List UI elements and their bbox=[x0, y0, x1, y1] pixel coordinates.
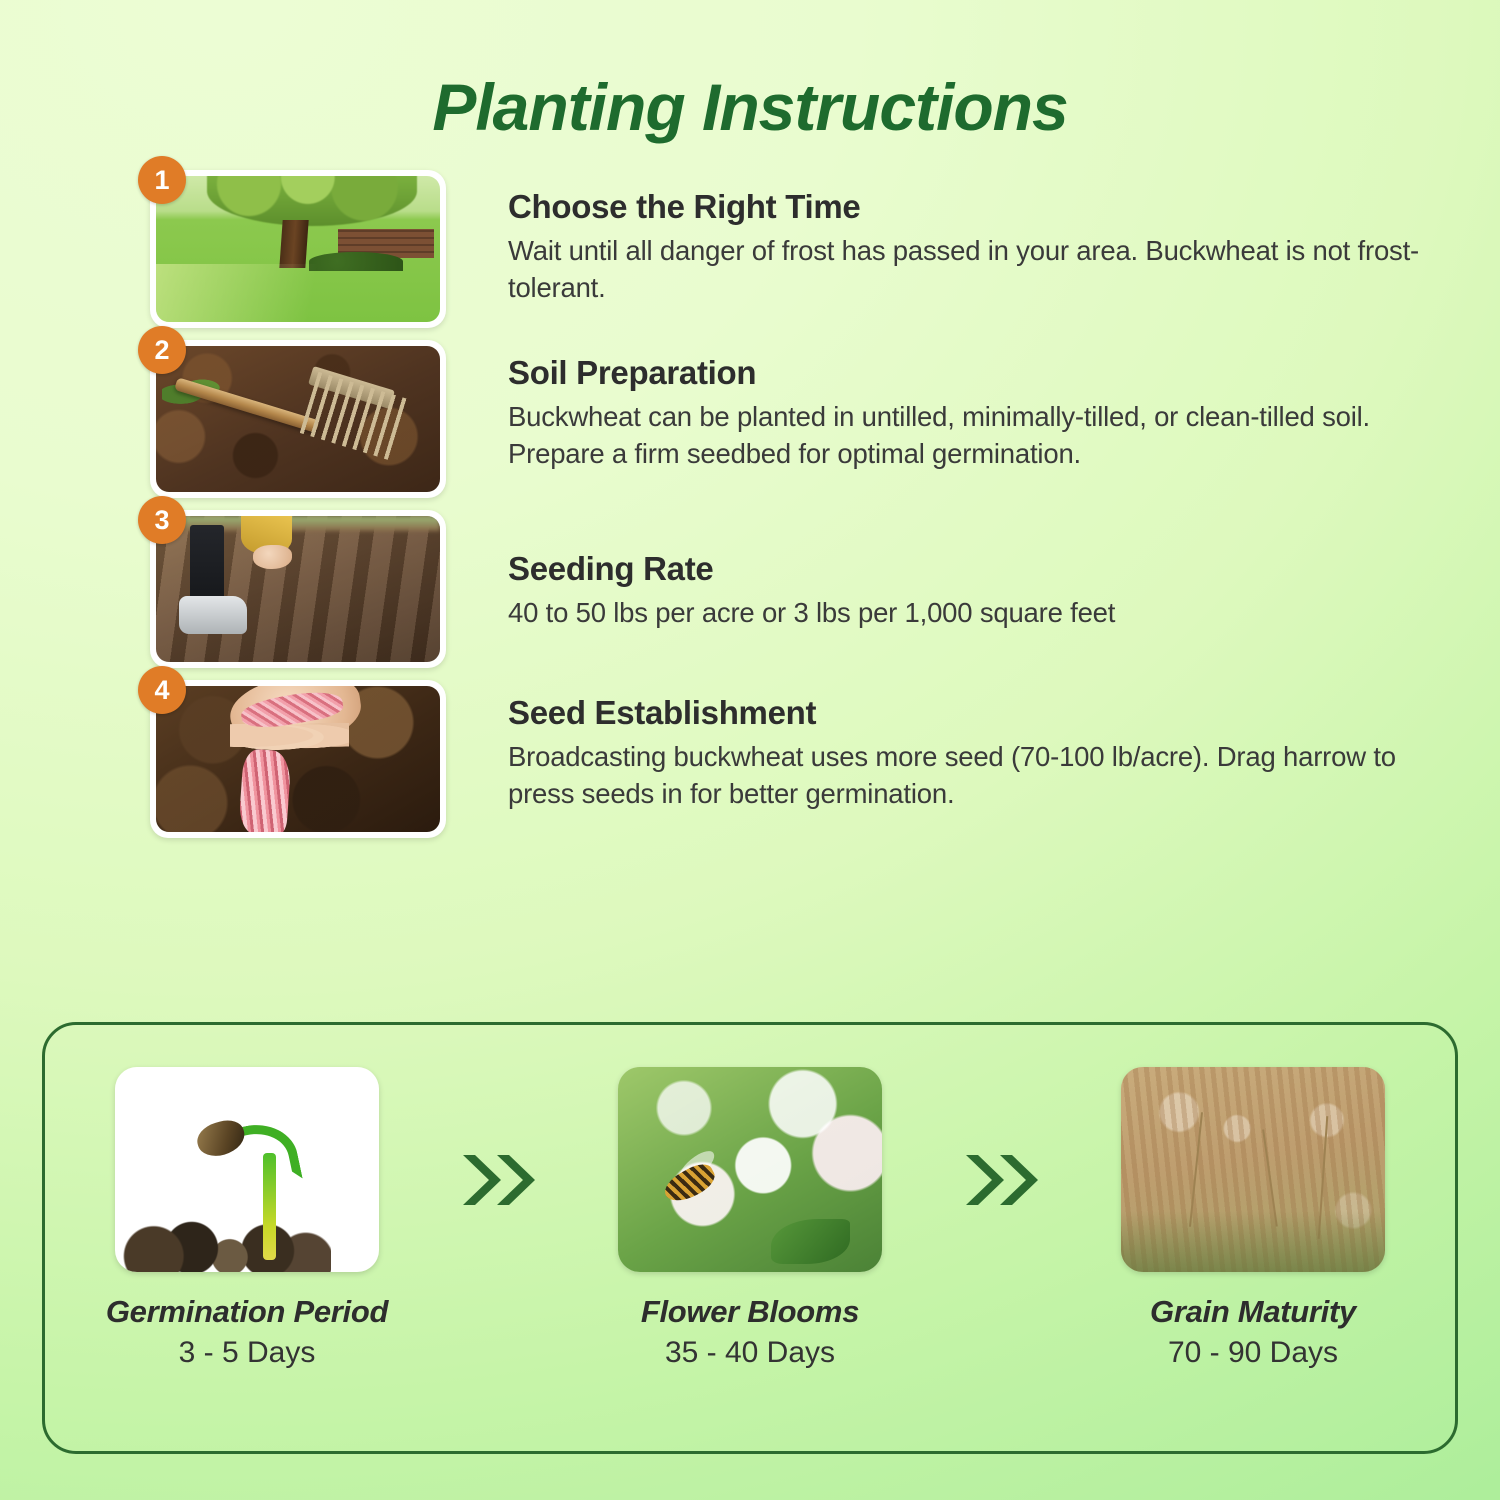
step-4-thumbnail-frame bbox=[150, 680, 446, 838]
step-1-heading: Choose the Right Time bbox=[508, 188, 1452, 226]
planting-steps-list: 1 Choose the Right Time Wait until all d… bbox=[0, 170, 1500, 838]
header: Planting Instructions bbox=[0, 0, 1500, 140]
mature-buckwheat-field-photo bbox=[1121, 1067, 1385, 1272]
step-4-thumbnail-wrap: 4 bbox=[150, 680, 446, 838]
step-item-2: 2 Soil Preparation Buckwheat can be plan… bbox=[150, 340, 1452, 498]
step-1-number-badge: 1 bbox=[138, 156, 186, 204]
step-3-text: Seeding Rate 40 to 50 lbs per acre or 3 … bbox=[508, 510, 1452, 632]
step-1-thumbnail-frame bbox=[150, 170, 446, 328]
growth-timeline-panel: Germination Period 3 - 5 Days Flower Blo… bbox=[42, 1022, 1458, 1454]
timeline-stage-germination: Germination Period 3 - 5 Days bbox=[97, 1067, 397, 1370]
step-item-3: 3 Seeding Rate 40 to 50 lbs per acre or … bbox=[150, 510, 1452, 668]
sunny-lawn-with-willow-tree-photo bbox=[156, 176, 440, 322]
step-4-number-badge: 4 bbox=[138, 666, 186, 714]
step-4-description: Broadcasting buckwheat uses more seed (7… bbox=[508, 739, 1452, 813]
double-chevron-right-icon-2 bbox=[954, 1149, 1050, 1211]
step-2-thumbnail-frame bbox=[150, 340, 446, 498]
hand-broadcasting-treated-seed-photo bbox=[156, 686, 440, 832]
step-1-thumbnail-wrap: 1 bbox=[150, 170, 446, 328]
step-1-text: Choose the Right Time Wait until all dan… bbox=[508, 170, 1452, 307]
step-3-thumbnail-wrap: 3 bbox=[150, 510, 446, 668]
step-3-thumbnail-frame bbox=[150, 510, 446, 668]
bee-on-buckwheat-blossom-photo bbox=[618, 1067, 882, 1272]
timeline-stage-1-label: Germination Period bbox=[97, 1294, 397, 1330]
step-2-description: Buckwheat can be planted in untilled, mi… bbox=[508, 399, 1452, 473]
step-item-1: 1 Choose the Right Time Wait until all d… bbox=[150, 170, 1452, 328]
step-4-heading: Seed Establishment bbox=[508, 694, 1452, 732]
step-item-4: 4 Seed Establishment Broadcasting buckwh… bbox=[150, 680, 1452, 838]
seedling-sprout-photo bbox=[115, 1067, 379, 1272]
timeline-stage-1-value: 3 - 5 Days bbox=[97, 1336, 397, 1370]
timeline-stage-3-value: 70 - 90 Days bbox=[1103, 1336, 1403, 1370]
step-2-number-badge: 2 bbox=[138, 326, 186, 374]
timeline-stage-3-label: Grain Maturity bbox=[1103, 1294, 1403, 1330]
step-2-thumbnail-wrap: 2 bbox=[150, 340, 446, 498]
step-4-text: Seed Establishment Broadcasting buckwhea… bbox=[508, 680, 1452, 813]
step-3-description: 40 to 50 lbs per acre or 3 lbs per 1,000… bbox=[508, 595, 1452, 632]
step-3-heading: Seeding Rate bbox=[508, 550, 1452, 588]
rake-on-tilled-soil-photo bbox=[156, 346, 440, 492]
step-2-heading: Soil Preparation bbox=[508, 354, 1452, 392]
sowing-seed-into-furrows-photo bbox=[156, 516, 440, 662]
double-chevron-right-icon bbox=[451, 1149, 547, 1211]
step-1-description: Wait until all danger of frost has passe… bbox=[508, 233, 1452, 307]
timeline-stage-2-value: 35 - 40 Days bbox=[600, 1336, 900, 1370]
timeline-stage-flowering: Flower Blooms 35 - 40 Days bbox=[600, 1067, 900, 1370]
page-title: Planting Instructions bbox=[0, 74, 1500, 140]
timeline-stage-2-label: Flower Blooms bbox=[600, 1294, 900, 1330]
step-3-number-badge: 3 bbox=[138, 496, 186, 544]
timeline-stage-maturity: Grain Maturity 70 - 90 Days bbox=[1103, 1067, 1403, 1370]
step-2-text: Soil Preparation Buckwheat can be plante… bbox=[508, 340, 1452, 473]
